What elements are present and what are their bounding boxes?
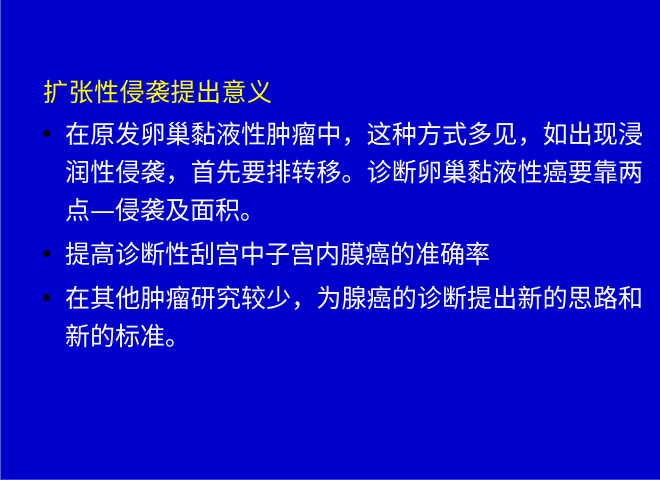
bullet-dot-icon	[43, 294, 50, 301]
bullet-item-label: 在其他肿瘤研究较少，为腺癌的诊断提出新的思路和新的标准。	[65, 280, 643, 356]
bullet-list-item: 在其他肿瘤研究较少，为腺癌的诊断提出新的思路和新的标准。	[37, 280, 637, 356]
presentation-slide: 扩张性侵袭提出意义 在原发卵巢黏液性肿瘤中，这种方式多见，如出现浸润性侵袭，首先…	[0, 0, 660, 480]
bullet-list-item: 提高诊断性刮宫中子宫内膜癌的准确率	[37, 236, 637, 274]
bullet-item-label: 在原发卵巢黏液性肿瘤中，这种方式多见，如出现浸润性侵袭，首先要排转移。诊断卵巢黏…	[65, 116, 643, 230]
slide-body: 在原发卵巢黏液性肿瘤中，这种方式多见，如出现浸润性侵袭，首先要排转移。诊断卵巢黏…	[37, 116, 637, 360]
bullet-dot-icon	[43, 250, 50, 257]
slide-title: 扩张性侵袭提出意义	[43, 78, 273, 108]
bullet-item-label: 提高诊断性刮宫中子宫内膜癌的准确率	[65, 236, 643, 274]
bullet-dot-icon	[43, 130, 50, 137]
bullet-list-item: 在原发卵巢黏液性肿瘤中，这种方式多见，如出现浸润性侵袭，首先要排转移。诊断卵巢黏…	[37, 116, 637, 230]
